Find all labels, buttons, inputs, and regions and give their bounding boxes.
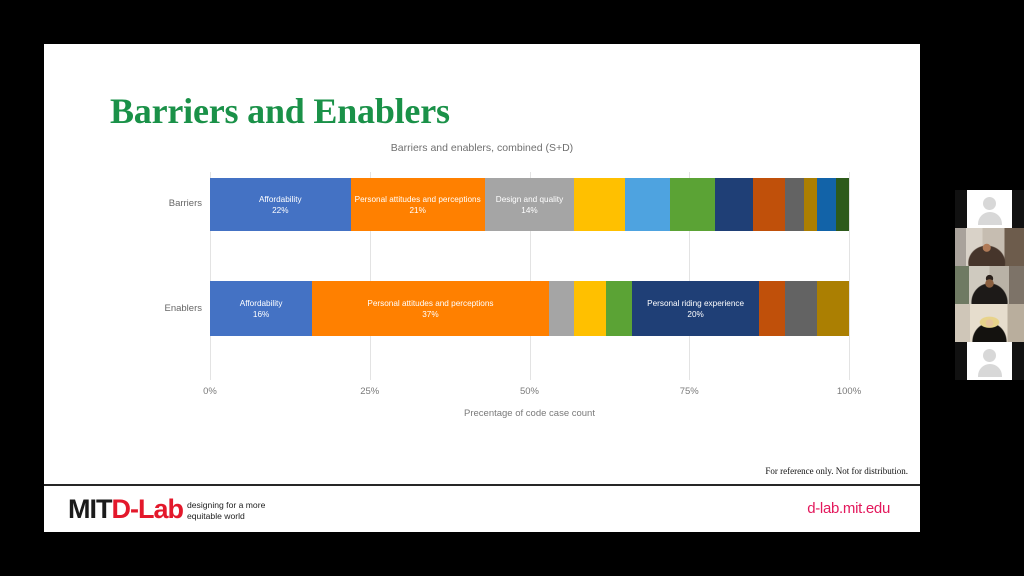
bar-segment-organizational-support[interactable] (804, 178, 817, 231)
x-tick-50: 50% (520, 386, 539, 397)
bar-segment-supply-and-access[interactable] (670, 178, 715, 231)
bar-segment-label: Affordability (240, 298, 283, 309)
bar-row-barriers[interactable]: Affordability22%Personal attitudes and p… (210, 178, 849, 231)
bar-segment-maintenance-and-repair[interactable] (574, 178, 625, 231)
x-tick-25: 25% (360, 386, 379, 397)
logo-dlab-text: D-Lab (112, 494, 184, 524)
page-title: Barriers and Enablers (110, 90, 450, 132)
participant-video-strip (955, 190, 1024, 380)
slide-footer: MIT D-Lab designing for a more equitable… (44, 486, 920, 532)
bar-segment-label: Affordability (259, 194, 302, 205)
x-tick-100: 100% (837, 386, 861, 397)
bar-segment-health-and-safety[interactable] (625, 178, 670, 231)
gridline-100 (849, 172, 850, 380)
bar-segment-affordability[interactable]: Affordability16% (210, 281, 312, 336)
avatar-head (983, 349, 996, 362)
bar-segment-value: 16% (253, 309, 269, 320)
logo-mit-text: MIT (68, 494, 112, 524)
participant-3-tile[interactable] (955, 266, 1024, 304)
participant-2-tile[interactable] (955, 228, 1024, 266)
bar-segment-social-norms[interactable] (785, 281, 817, 336)
bar-segment-personal-riding-experience[interactable]: Personal riding experience20% (632, 281, 760, 336)
bar-segment-geography-climate-and-infrastructure[interactable] (759, 281, 785, 336)
bar-segment-label: Personal riding experience (647, 298, 744, 309)
dlab-website-url[interactable]: d-lab.mit.edu (807, 500, 890, 517)
x-axis-title: Precentage of code case count (210, 408, 849, 419)
bar-segment-value: 21% (409, 205, 425, 216)
logo-tagline: designing for a more equitable world (187, 500, 265, 521)
bar-segment-organizational-support[interactable] (817, 281, 849, 336)
bar-segment-label: Personal attitudes and perceptions (355, 194, 481, 205)
avatar (967, 190, 1012, 228)
bar-segment-personal-attitudes-and-perceptions[interactable]: Personal attitudes and perceptions37% (312, 281, 548, 336)
chart-plot-area: Barriers Enablers Affordability22%Person… (210, 172, 849, 380)
video-feed (955, 228, 1024, 266)
bar-segment-gender-norms[interactable] (817, 178, 836, 231)
stacked-bar-chart: Barriers and enablers, combined (S+D) Ba… (44, 140, 920, 480)
avatar-body (978, 212, 1002, 225)
avatar-head (983, 197, 996, 210)
bar-segment-social-norms[interactable] (785, 178, 804, 231)
bar-segment-label: Personal attitudes and perceptions (367, 298, 493, 309)
chart-title: Barriers and enablers, combined (S+D) (44, 142, 920, 154)
x-tick-0: 0% (203, 386, 217, 397)
bar-segment-design-and-quality[interactable] (549, 281, 575, 336)
presentation-slide: Barriers and Enablers Barriers and enabl… (44, 44, 920, 532)
x-tick-75: 75% (680, 386, 699, 397)
bar-row-enablers[interactable]: Affordability16%Personal attitudes and p… (210, 281, 849, 336)
mit-dlab-logo: MIT D-Lab designing for a more equitable… (68, 494, 265, 524)
video-feed (955, 266, 1024, 304)
video-feed (955, 304, 1024, 342)
bar-segment-geography-climate-and-infrastructure[interactable] (753, 178, 785, 231)
y-axis-label-enablers: Enablers (142, 303, 202, 314)
bar-segment-value: 14% (521, 205, 537, 216)
y-axis-label-barriers: Barriers (142, 198, 202, 209)
bar-segment-label: Design and quality (496, 194, 563, 205)
bar-segment-policies-and-regluations[interactable] (836, 178, 849, 231)
bar-segment-value: 22% (272, 205, 288, 216)
avatar-body (978, 364, 1002, 377)
bar-segment-supply-and-access[interactable] (606, 281, 632, 336)
bar-segment-affordability[interactable]: Affordability22% (210, 178, 351, 231)
bar-segment-value: 20% (687, 309, 703, 320)
participant-4-tile[interactable] (955, 304, 1024, 342)
bar-segment-personal-attitudes-and-perceptions[interactable]: Personal attitudes and perceptions21% (351, 178, 485, 231)
bar-segment-maintenance-and-repair[interactable] (574, 281, 606, 336)
participant-1-tile[interactable] (955, 190, 1024, 228)
avatar (967, 342, 1012, 380)
bar-segment-value: 37% (422, 309, 438, 320)
person-icon (978, 349, 1002, 377)
bar-segment-personal-riding-experience[interactable] (715, 178, 753, 231)
bar-segment-design-and-quality[interactable]: Design and quality14% (485, 178, 574, 231)
participant-5-tile[interactable] (955, 342, 1024, 380)
person-icon (978, 197, 1002, 225)
reference-note: For reference only. Not for distribution… (765, 466, 908, 476)
